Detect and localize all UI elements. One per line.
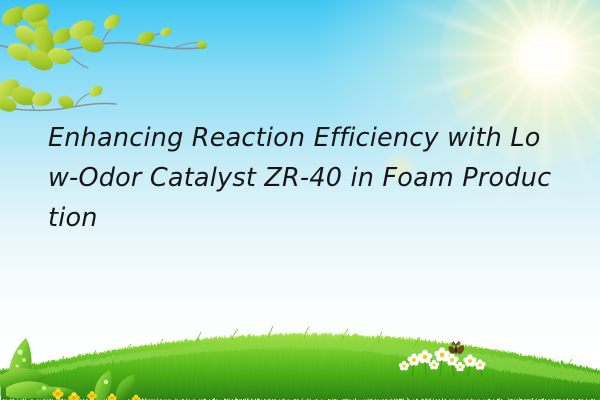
daisy-cluster-group bbox=[392, 336, 502, 378]
daisy-icon bbox=[418, 350, 433, 364]
yellow-flower-icon bbox=[132, 395, 140, 400]
slim-leaf-icon bbox=[95, 370, 112, 400]
dew-drop-icon bbox=[22, 358, 26, 362]
dew-drop-icon bbox=[17, 349, 22, 354]
dew-drop-icon bbox=[42, 386, 46, 390]
daisy-icon bbox=[399, 361, 410, 371]
yellow-flower-icon bbox=[108, 394, 117, 400]
dew-drop-icon bbox=[16, 365, 19, 368]
page-title: Enhancing Reaction Efficiency with Low-O… bbox=[48, 118, 553, 238]
leaf-group-lower bbox=[0, 76, 105, 115]
foliage-left-group bbox=[0, 330, 200, 400]
leaf-icon bbox=[101, 12, 123, 33]
lens-flare-secondary-icon bbox=[455, 80, 477, 102]
sun-icon bbox=[512, 22, 578, 88]
nature-title-banner: Enhancing Reaction Efficiency with Low-O… bbox=[0, 0, 600, 400]
leaf-bud-icon bbox=[87, 83, 104, 99]
butterfly-icon bbox=[449, 341, 465, 354]
leaf-icon bbox=[56, 93, 76, 111]
dew-drop-icon bbox=[104, 380, 108, 384]
leaf-bud-icon bbox=[159, 26, 173, 39]
daisy-flowers bbox=[399, 347, 486, 371]
slim-leaf-icon bbox=[116, 374, 135, 400]
